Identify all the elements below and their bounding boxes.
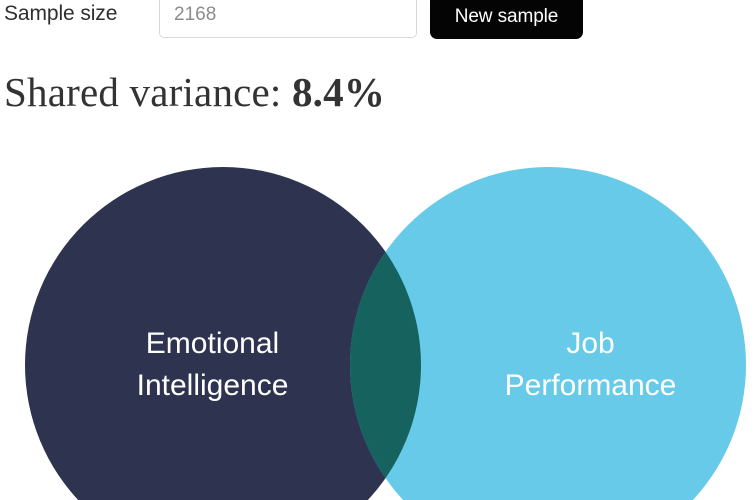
left-circle-label-line1: Emotional (146, 327, 279, 360)
right-circle-label-line1: Job (566, 327, 614, 360)
venn-svg: Emotional Intelligence Job Performance (0, 0, 756, 500)
left-circle-label-line2: Intelligence (137, 369, 289, 402)
venn-diagram: Emotional Intelligence Job Performance (0, 0, 756, 500)
right-circle-label-line2: Performance (505, 369, 677, 402)
